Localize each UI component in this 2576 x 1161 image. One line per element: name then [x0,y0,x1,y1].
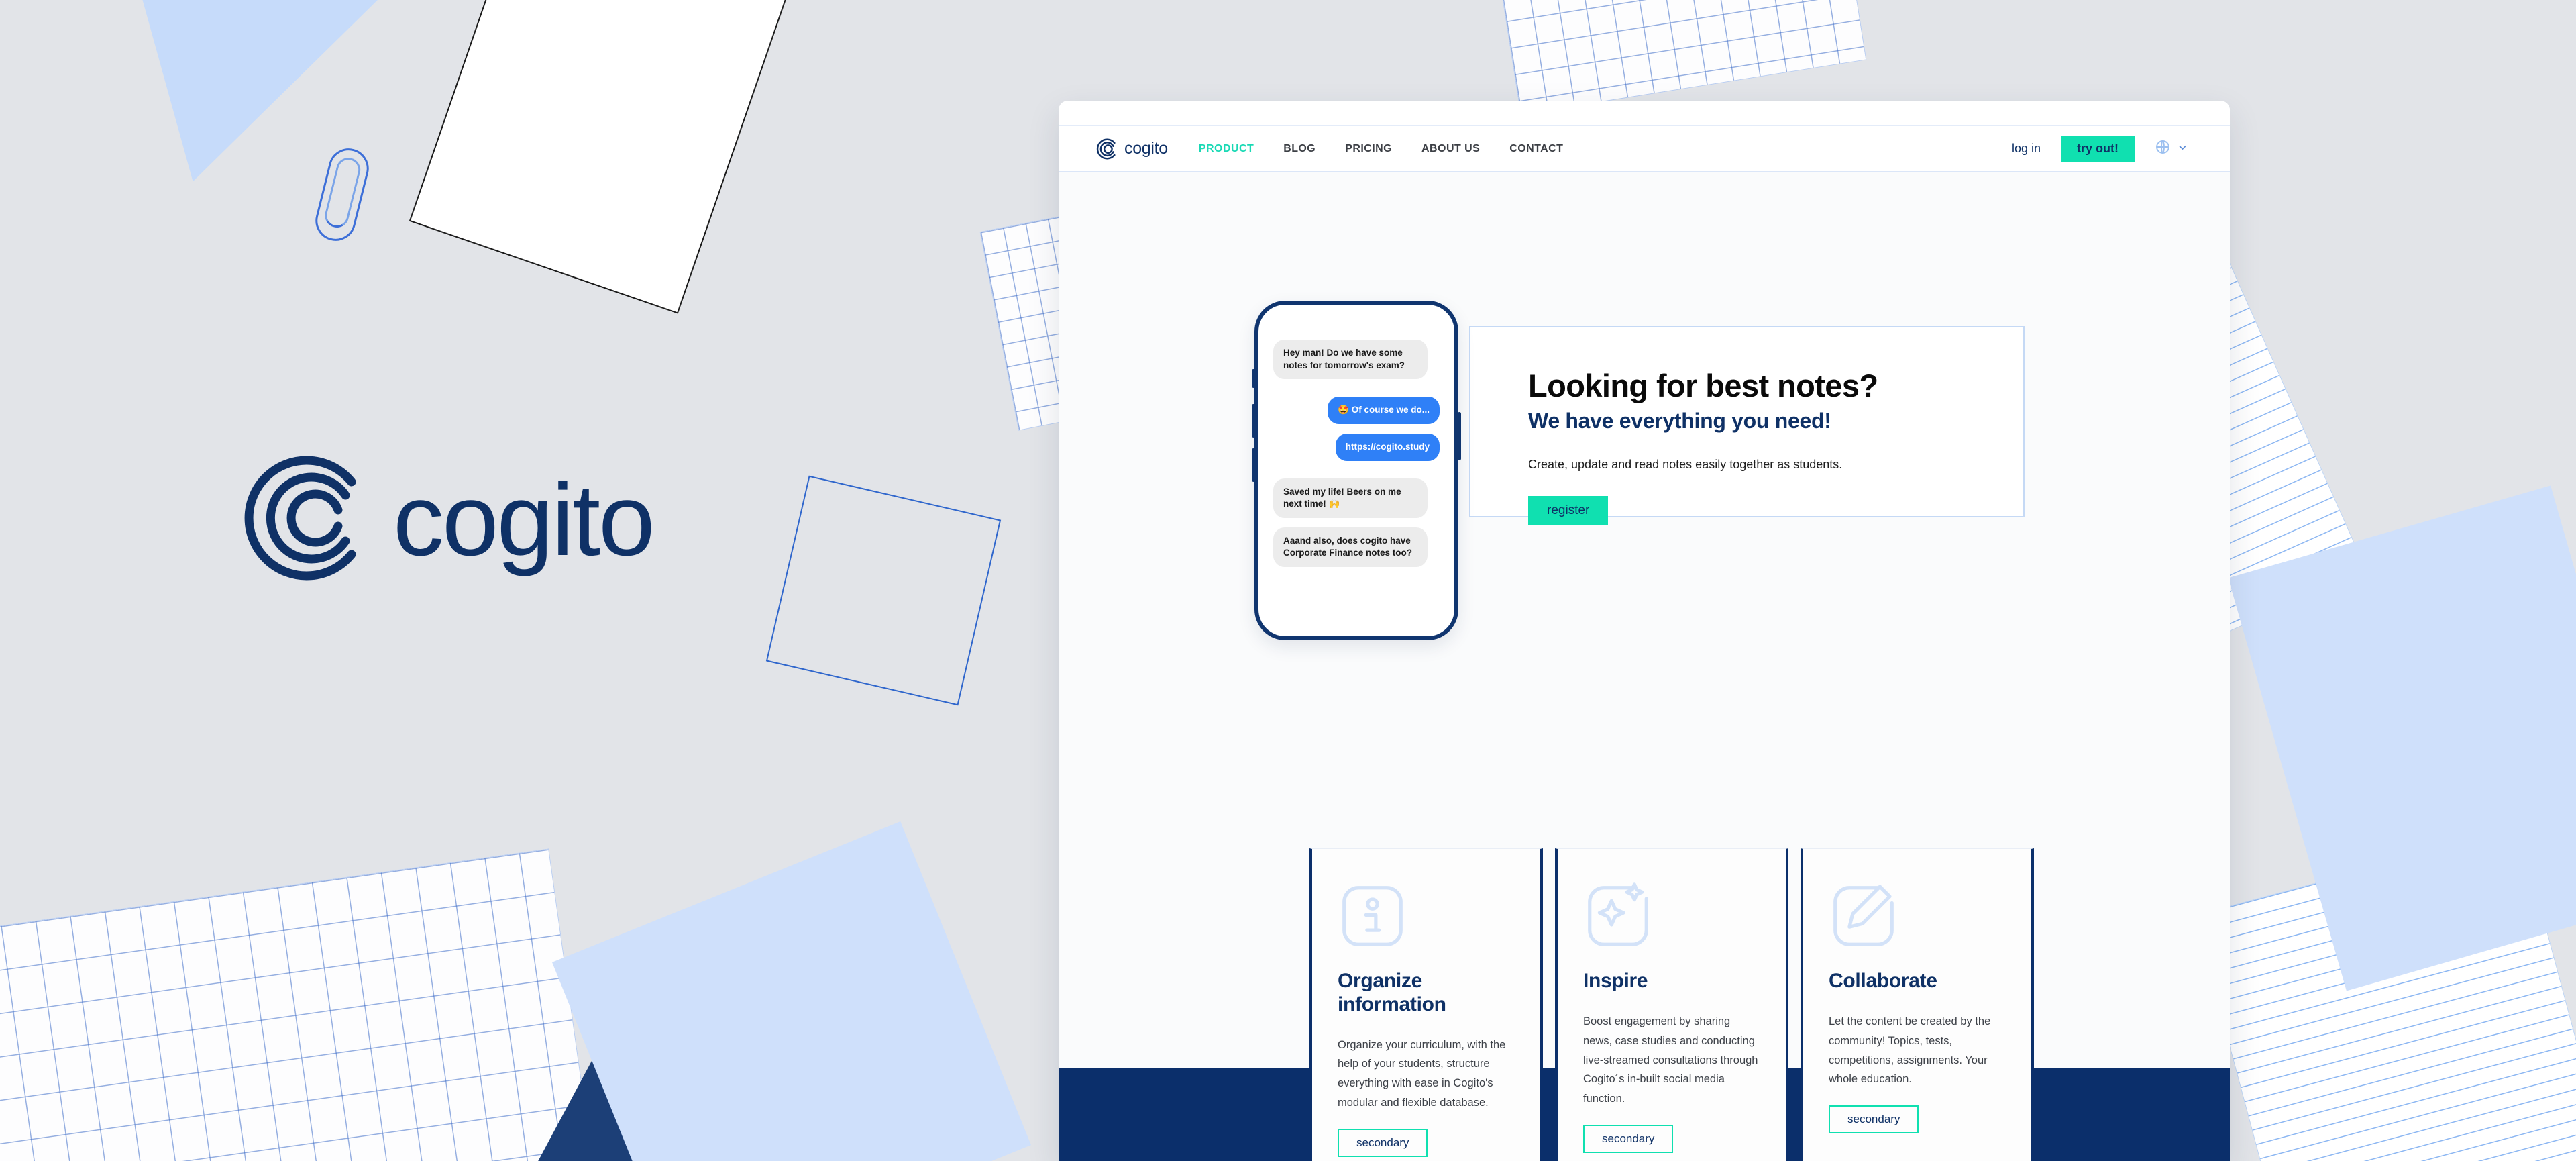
feature-card-secondary-button[interactable]: secondary [1583,1125,1673,1153]
nav-link-about-us[interactable]: ABOUT US [1421,143,1480,155]
cogito-spiral-c-logo-icon [1093,136,1119,162]
nav-link-blog[interactable]: BLOG [1283,143,1316,155]
login-link[interactable]: log in [2012,142,2041,156]
hero-card: Looking for best notes? We have everythi… [1469,326,2025,517]
nav-link-pricing[interactable]: PRICING [1345,143,1392,155]
showcase-wordmark: cogito [393,469,653,571]
brand-name: cogito [1124,139,1168,158]
feature-card-title: Collaborate [1829,970,2006,993]
chat-thread: Hey man! Do we have some notes for tomor… [1258,305,1454,567]
globe-icon [2155,139,2171,158]
phone-volume-up-button [1252,404,1255,438]
site-navbar: cogito PRODUCT BLOG PRICING ABOUT US CON… [1059,126,2230,172]
sparkle-square-icon [1583,881,1653,951]
decor-navy-triangle-bottomleft [416,1013,993,1161]
decor-white-paper-topleft [409,0,802,314]
phone-mockup: Hey man! Do we have some notes for tomor… [1254,301,1458,640]
browser-window: cogito PRODUCT BLOG PRICING ABOUT US CON… [1059,101,2230,1161]
nav-actions: log in try out! [2012,136,2188,162]
pencil-edit-square-icon [1829,881,1898,951]
register-button[interactable]: register [1528,496,1608,525]
nav-link-product[interactable]: PRODUCT [1199,143,1254,155]
nav-links: PRODUCT BLOG PRICING ABOUT US CONTACT [1199,143,1563,155]
feature-card-body: Boost engagement by sharing news, case s… [1583,1012,1760,1109]
chevron-down-icon [2177,142,2188,156]
hero-subtitle: We have everything you need! [1528,409,2023,433]
chat-bubble-incoming: Saved my life! Beers on me next time! 🙌 [1273,478,1428,518]
info-person-square-icon [1338,881,1407,951]
feature-cards: Organize information Organize your curri… [1309,848,2034,1161]
nav-link-contact[interactable]: CONTACT [1509,143,1563,155]
chat-bubble-outgoing-link[interactable]: https://cogito.study [1336,434,1440,461]
feature-card-body: Let the content be created by the commun… [1829,1012,2006,1090]
cogito-spiral-c-logo-icon [236,451,370,589]
decor-light-blue-square-bottomleft [552,821,1031,1161]
chat-bubble-outgoing: 🤩 Of course we do... [1328,397,1440,424]
landing-page-body: Hey man! Do we have some notes for tomor… [1059,172,2230,1161]
chat-bubble-incoming: Aaand also, does cogito have Corporate F… [1273,527,1428,567]
decor-grid-paper-bottomleft [0,848,601,1161]
feature-card-inspire: Inspire Boost engagement by sharing news… [1555,848,1788,1161]
try-out-button[interactable]: try out! [2061,136,2135,162]
chat-bubble-incoming: Hey man! Do we have some notes for tomor… [1273,340,1428,379]
phone-mute-button [1252,369,1255,388]
decor-grid-paper-topright [1489,0,1867,115]
feature-card-secondary-button[interactable]: secondary [1829,1105,1919,1133]
hero-title: Looking for best notes? [1528,369,2023,403]
decor-blue-square-outline-left [766,476,1001,706]
phone-power-button [1458,412,1461,460]
feature-card-secondary-button[interactable]: secondary [1338,1129,1428,1157]
phone-volume-down-button [1252,448,1255,482]
feature-card-collaborate: Collaborate Let the content be created b… [1801,848,2034,1161]
language-selector[interactable] [2155,139,2188,158]
showcase-stage: cogito PRODUCT BLOG PRICING ABOUT US CON… [0,0,2576,1161]
browser-chrome-bar [1059,101,2230,126]
feature-card-organize-information: Organize information Organize your curri… [1309,848,1543,1161]
decor-light-blue-triangle-topleft [0,0,504,239]
hero-body-text: Create, update and read notes easily tog… [1528,456,2023,473]
feature-card-title: Organize information [1338,970,1515,1017]
brand-logo[interactable]: cogito [1093,136,1168,162]
decor-lined-paper-bottomright [2194,828,2576,1161]
showcase-logo: cogito [236,451,653,589]
feature-card-body: Organize your curriculum, with the help … [1338,1036,1515,1113]
decor-paperclip-topleft [311,144,373,245]
feature-card-title: Inspire [1583,970,1760,993]
decor-light-blue-square-right [2228,485,2576,991]
